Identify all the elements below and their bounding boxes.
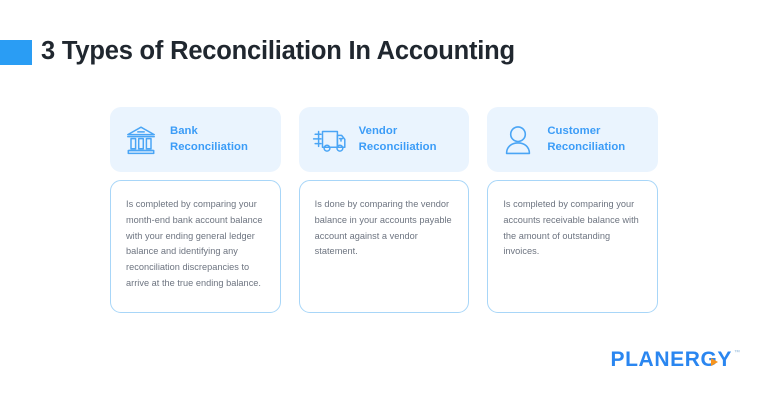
card-header-vendor: VendorReconciliation: [299, 107, 470, 172]
card-body-vendor: Is done by comparing the vendor balance …: [299, 180, 470, 313]
card-body-text-customer: Is completed by comparing your accounts …: [503, 197, 643, 260]
planergy-logo: PLANERGY ™: [611, 349, 740, 370]
card-title-bank: BankReconciliation: [170, 124, 248, 154]
title-accent-bar: [0, 40, 32, 65]
card-body-text-bank: Is completed by comparing your month-end…: [126, 197, 266, 292]
card-body-bank: Is completed by comparing your month-end…: [110, 180, 281, 313]
card-bank-reconciliation: BankReconciliation Is completed by compa…: [110, 107, 281, 313]
logo-trademark: ™: [734, 350, 740, 356]
logo-wordmark: PLANERGY: [611, 349, 732, 370]
logo-accent-arrow-icon: [711, 358, 718, 366]
card-vendor-reconciliation: VendorReconciliation Is done by comparin…: [299, 107, 470, 313]
card-customer-reconciliation: CustomerReconciliation Is completed by c…: [487, 107, 658, 313]
page-title-row: 3 Types of Reconciliation In Accounting: [0, 34, 515, 70]
reconciliation-cards: BankReconciliation Is completed by compa…: [110, 107, 658, 313]
card-title-vendor: VendorReconciliation: [359, 124, 437, 154]
bank-building-icon: [123, 122, 159, 158]
card-body-customer: Is completed by comparing your accounts …: [487, 180, 658, 313]
slide-canvas: 3 Types of Reconciliation In Accounting: [0, 0, 768, 404]
card-header-customer: CustomerReconciliation: [487, 107, 658, 172]
card-header-bank: BankReconciliation: [110, 107, 281, 172]
page-title: 3 Types of Reconciliation In Accounting: [41, 39, 515, 65]
person-icon: [500, 122, 536, 158]
card-body-text-vendor: Is done by comparing the vendor balance …: [315, 197, 455, 260]
card-title-customer: CustomerReconciliation: [547, 124, 625, 154]
delivery-truck-icon: [312, 122, 348, 158]
